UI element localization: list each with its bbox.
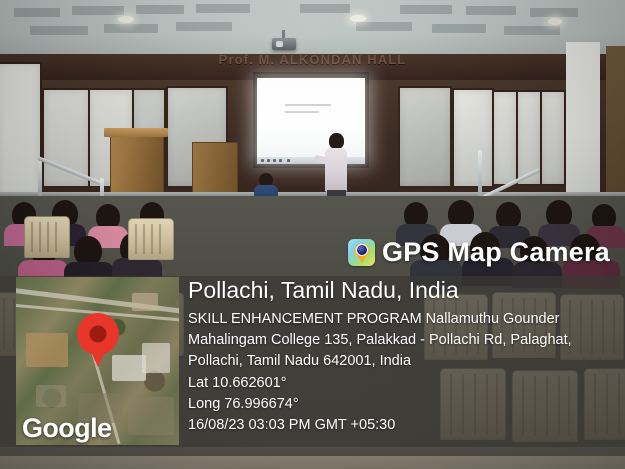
wall-panel xyxy=(0,62,42,198)
ceiling-light xyxy=(548,18,562,25)
ceiling-light xyxy=(350,15,366,22)
location-line-1: SKILL ENHANCEMENT PROGRAM Nallamuthu Gou… xyxy=(188,309,608,330)
podium-top xyxy=(104,128,168,137)
map-area xyxy=(128,397,174,435)
wall-pillar xyxy=(566,42,600,194)
map-pin-icon xyxy=(77,313,119,355)
audience-head xyxy=(496,202,521,229)
location-title: Pollachi, Tamil Nadu, India xyxy=(188,278,608,304)
chair xyxy=(24,216,70,258)
handrail-post xyxy=(38,158,42,200)
longitude-value: Long 76.996674° xyxy=(188,394,608,415)
presenter-head xyxy=(329,133,344,149)
gps-map-camera-photo: Prof. M. ALKONDAN HALL xyxy=(0,0,625,469)
wall-panel xyxy=(398,86,452,188)
map-building xyxy=(142,343,170,373)
wall-column xyxy=(606,46,625,196)
location-line-3: Pollachi, Tamil Nadu 642001, India xyxy=(188,351,608,372)
timestamp-value: 16/08/23 03:03 PM GMT +05:30 xyxy=(188,415,608,436)
wall-panel xyxy=(540,90,566,186)
map-building xyxy=(112,355,146,381)
chair xyxy=(128,218,174,260)
ceiling-light xyxy=(118,16,134,23)
latitude-value: Lat 10.662601° xyxy=(188,373,608,394)
gps-map-camera-logo-icon xyxy=(348,239,375,266)
projection-screen xyxy=(253,72,369,168)
handrail-post xyxy=(478,150,482,198)
gps-map-camera-watermark: GPS Map Camera xyxy=(348,239,610,266)
map-field xyxy=(26,333,68,367)
presenter-body xyxy=(325,148,347,192)
screen-taskbar xyxy=(257,157,365,164)
watermark-title: GPS Map Camera xyxy=(382,239,610,266)
wall-panel xyxy=(452,88,494,188)
podium-secondary xyxy=(192,142,238,198)
location-text-block: Pollachi, Tamil Nadu, India SKILL ENHANC… xyxy=(188,278,608,437)
map-building xyxy=(132,293,158,311)
map-building xyxy=(36,385,66,407)
map-thumbnail[interactable]: Google xyxy=(16,277,179,445)
projector-lens xyxy=(276,41,283,47)
google-attribution: Google xyxy=(22,413,111,444)
podium xyxy=(110,133,164,197)
wall-panel xyxy=(492,90,518,186)
hall-name-sign: Prof. M. ALKONDAN HALL xyxy=(0,52,625,67)
screen-surface xyxy=(257,78,365,162)
location-line-2: Mahalingam College 135, Palakkad - Polla… xyxy=(188,330,608,351)
